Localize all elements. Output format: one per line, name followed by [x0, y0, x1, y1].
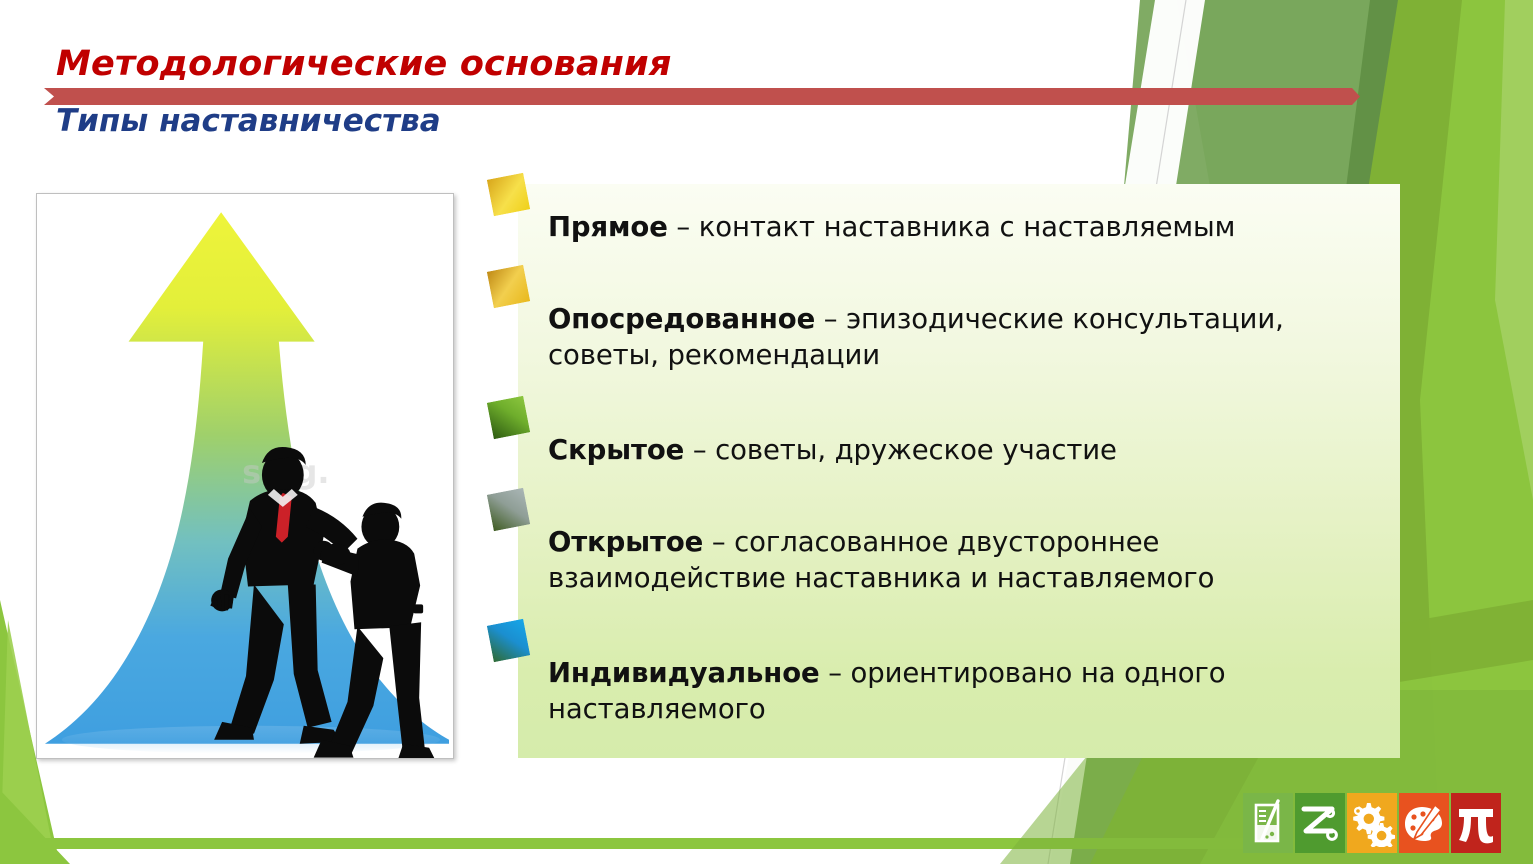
slide-canvas: Методологические основания Типы наставни… — [0, 0, 1533, 864]
bullet-list: Прямое – контакт наставника с наставляем… — [548, 198, 1374, 748]
diamond-marker-green — [487, 396, 530, 439]
bullet-text: Индивидуальное – ориентировано на одного… — [548, 656, 1388, 728]
bullet-dash: – — [820, 657, 851, 689]
bullet-dash: – — [815, 303, 846, 335]
clasped-hands — [321, 544, 351, 566]
diamond-marker-amber — [487, 265, 530, 308]
list-item: Прямое – контакт наставника с наставляем… — [548, 210, 1388, 246]
diamond-marker-silver — [487, 488, 530, 531]
bullet-lead: Скрытое — [548, 434, 684, 466]
bullet-text: Опосредованное – эпизодические консульта… — [548, 302, 1388, 374]
bullet-dash: – — [684, 434, 715, 466]
subject-icons-strip — [1243, 793, 1501, 853]
gears-icon — [1347, 793, 1397, 853]
growth-arrow-photo: sing. — [36, 193, 454, 759]
bullet-rest: советы, дружеское участие — [715, 434, 1117, 466]
list-item: Опосредованное – эпизодические консульта… — [548, 302, 1388, 374]
bullet-lead: Индивидуальное — [548, 657, 820, 689]
page-subtitle: Типы наставничества — [56, 104, 441, 138]
bullet-lead: Открытое — [548, 526, 703, 558]
bullet-lead: Опосредованное — [548, 303, 815, 335]
bullet-text: Скрытое – советы, дружеское участие — [548, 433, 1388, 469]
list-item: Открытое – согласованное двустороннее вз… — [548, 525, 1388, 597]
bullet-rest: контакт наставника с наставляемым — [699, 211, 1236, 243]
bullet-lead: Прямое — [548, 211, 668, 243]
bg-bottom-band-left-wedge — [0, 790, 70, 864]
mentoring-types-panel: Прямое – контакт наставника с наставляем… — [518, 184, 1400, 758]
bullet-dash: – — [668, 211, 699, 243]
diamond-marker-yellow — [487, 173, 530, 216]
bg-shape-light-green — [1420, 0, 1533, 864]
palette-icon — [1399, 793, 1449, 853]
pi-icon — [1451, 793, 1501, 853]
bullet-text: Открытое – согласованное двустороннее вз… — [548, 525, 1388, 597]
list-item: Индивидуальное – ориентировано на одного… — [548, 656, 1388, 728]
list-item: Скрытое – советы, дружеское участие — [548, 433, 1388, 469]
diamond-marker-blue — [487, 619, 530, 662]
bullet-dash: – — [703, 526, 734, 558]
bullet-text: Прямое – контакт наставника с наставляем… — [548, 210, 1388, 246]
title-block: Методологические основания — [56, 46, 1256, 83]
bg-shape-pale-green — [1495, 0, 1533, 500]
beaker-icon — [1243, 793, 1293, 853]
compass-scissors-icon — [1295, 793, 1345, 853]
page-title: Методологические основания — [56, 46, 1256, 83]
